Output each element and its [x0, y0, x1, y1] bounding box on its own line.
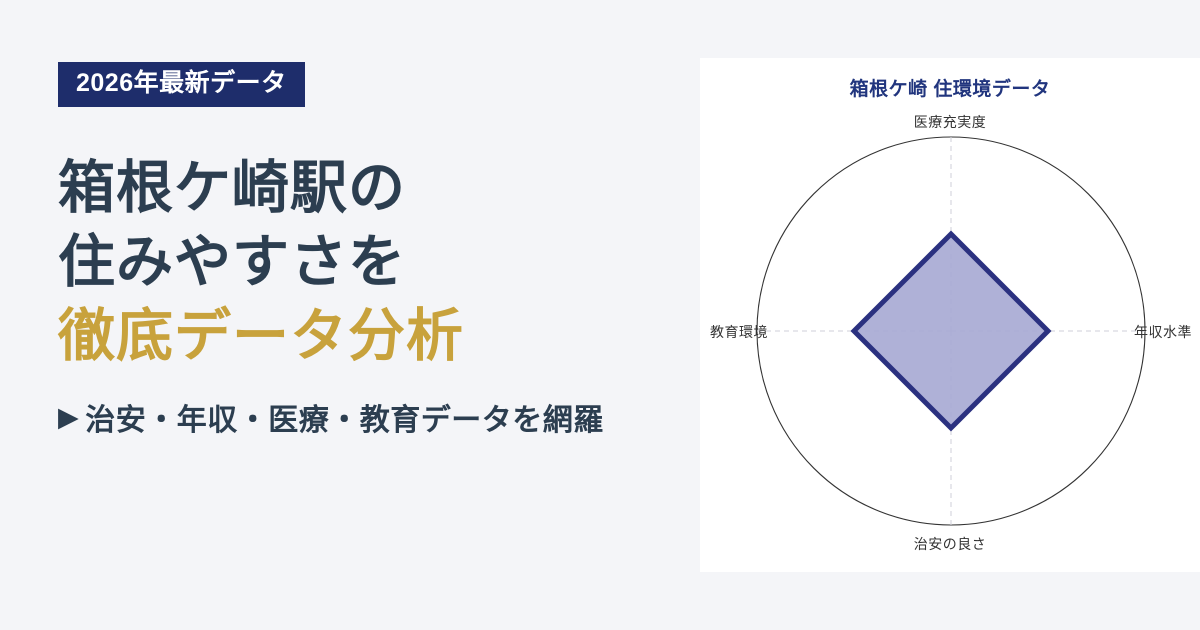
- date-badge: 2026年最新データ: [58, 62, 305, 107]
- chart-panel: 箱根ケ崎 住環境データ 医療充実度 年収水準 治安の良さ 教育環境: [700, 58, 1200, 572]
- axis-label-safety: 治安の良さ: [700, 534, 1200, 554]
- radar-series-polygon: [854, 234, 1048, 428]
- poster-canvas: 2026年最新データ 箱根ケ崎駅の 住みやすさを 徹底データ分析 ▶ 治安・年収…: [0, 0, 1200, 630]
- subtitle: ▶ 治安・年収・医療・教育データを網羅: [58, 395, 700, 439]
- radar-chart: 医療充実度 年収水準 治安の良さ 教育環境: [700, 58, 1200, 572]
- headline-line-3: 徹底データ分析: [58, 299, 700, 373]
- triangle-right-icon: ▶: [58, 404, 79, 431]
- headline-line-1: 箱根ケ崎駅の: [58, 151, 700, 225]
- radar-svg: [700, 58, 1200, 572]
- axis-label-education: 教育環境: [710, 322, 768, 342]
- editorial-column: 2026年最新データ 箱根ケ崎駅の 住みやすさを 徹底データ分析 ▶ 治安・年収…: [0, 0, 700, 630]
- axis-label-income: 年収水準: [1134, 322, 1192, 342]
- page-title: 箱根ケ崎駅の 住みやすさを 徹底データ分析: [58, 151, 700, 373]
- axis-label-medical: 医療充実度: [700, 112, 1200, 132]
- subtitle-text: 治安・年収・医療・教育データを網羅: [85, 395, 604, 439]
- headline-line-2: 住みやすさを: [58, 225, 700, 299]
